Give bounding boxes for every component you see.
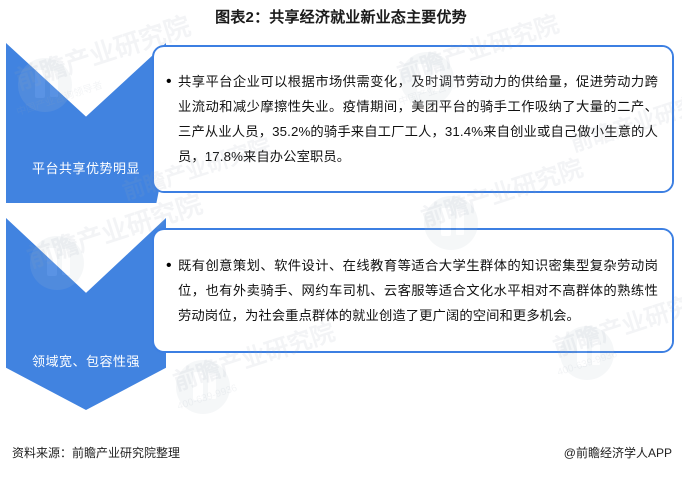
bullet-row: • 既有创意策划、软件设计、在线教育等适合大学生群体的知识密集型复杂劳动岗位，也…: [164, 253, 658, 328]
bullet-point-icon: •: [164, 253, 178, 278]
content-box-advantage-2: • 既有创意策划、软件设计、在线教育等适合大学生群体的知识密集型复杂劳动岗位，也…: [152, 228, 674, 353]
source-note: 资料来源：前瞻产业研究院整理: [12, 444, 180, 461]
advantage-1-body-text: 共享平台企业可以根据市场供需变化，及时调节劳动力的供给量，促进劳动力跨业流动和减…: [178, 69, 658, 169]
content-box-inner: • 既有创意策划、软件设计、在线教育等适合大学生群体的知识密集型复杂劳动岗位，也…: [154, 230, 672, 351]
watermark-phone: 400-639-9936: [176, 383, 239, 413]
footer: 资料来源：前瞻产业研究院整理 @前瞻经济学人APP: [0, 434, 682, 478]
chevron-label-advantage-2[interactable]: 领域宽、包容性强: [6, 218, 166, 410]
bullet-row: • 共享平台企业可以根据市场供需变化，及时调节劳动力的供给量，促进劳动力跨业流动…: [164, 69, 658, 169]
content-box-inner: • 共享平台企业可以根据市场供需变化，及时调节劳动力的供给量，促进劳动力跨业流动…: [154, 47, 672, 191]
infographic-root: 图表2：共享经济就业新业态主要优势 前瞻产业研究院 中国产业咨询领导者 前瞻产业…: [0, 0, 682, 478]
chevron-label-text: 领域宽、包容性强: [6, 352, 166, 410]
chevron-label-advantage-1[interactable]: 平台共享优势明显: [6, 43, 166, 203]
content-box-advantage-1: • 共享平台企业可以根据市场供需变化，及时调节劳动力的供给量，促进劳动力跨业流动…: [152, 45, 674, 193]
chevron-label-text: 平台共享优势明显: [6, 159, 166, 203]
advantage-2-body-text: 既有创意策划、软件设计、在线教育等适合大学生群体的知识密集型复杂劳动岗位，也有外…: [178, 253, 658, 328]
page-title: 图表2：共享经济就业新业态主要优势: [0, 8, 682, 28]
watermark-phone: 400-639-9936: [556, 349, 619, 379]
watermark-logo-icon: [176, 360, 230, 414]
bullet-point-icon: •: [164, 69, 178, 94]
brand-credit: @前瞻经济学人APP: [564, 444, 672, 461]
